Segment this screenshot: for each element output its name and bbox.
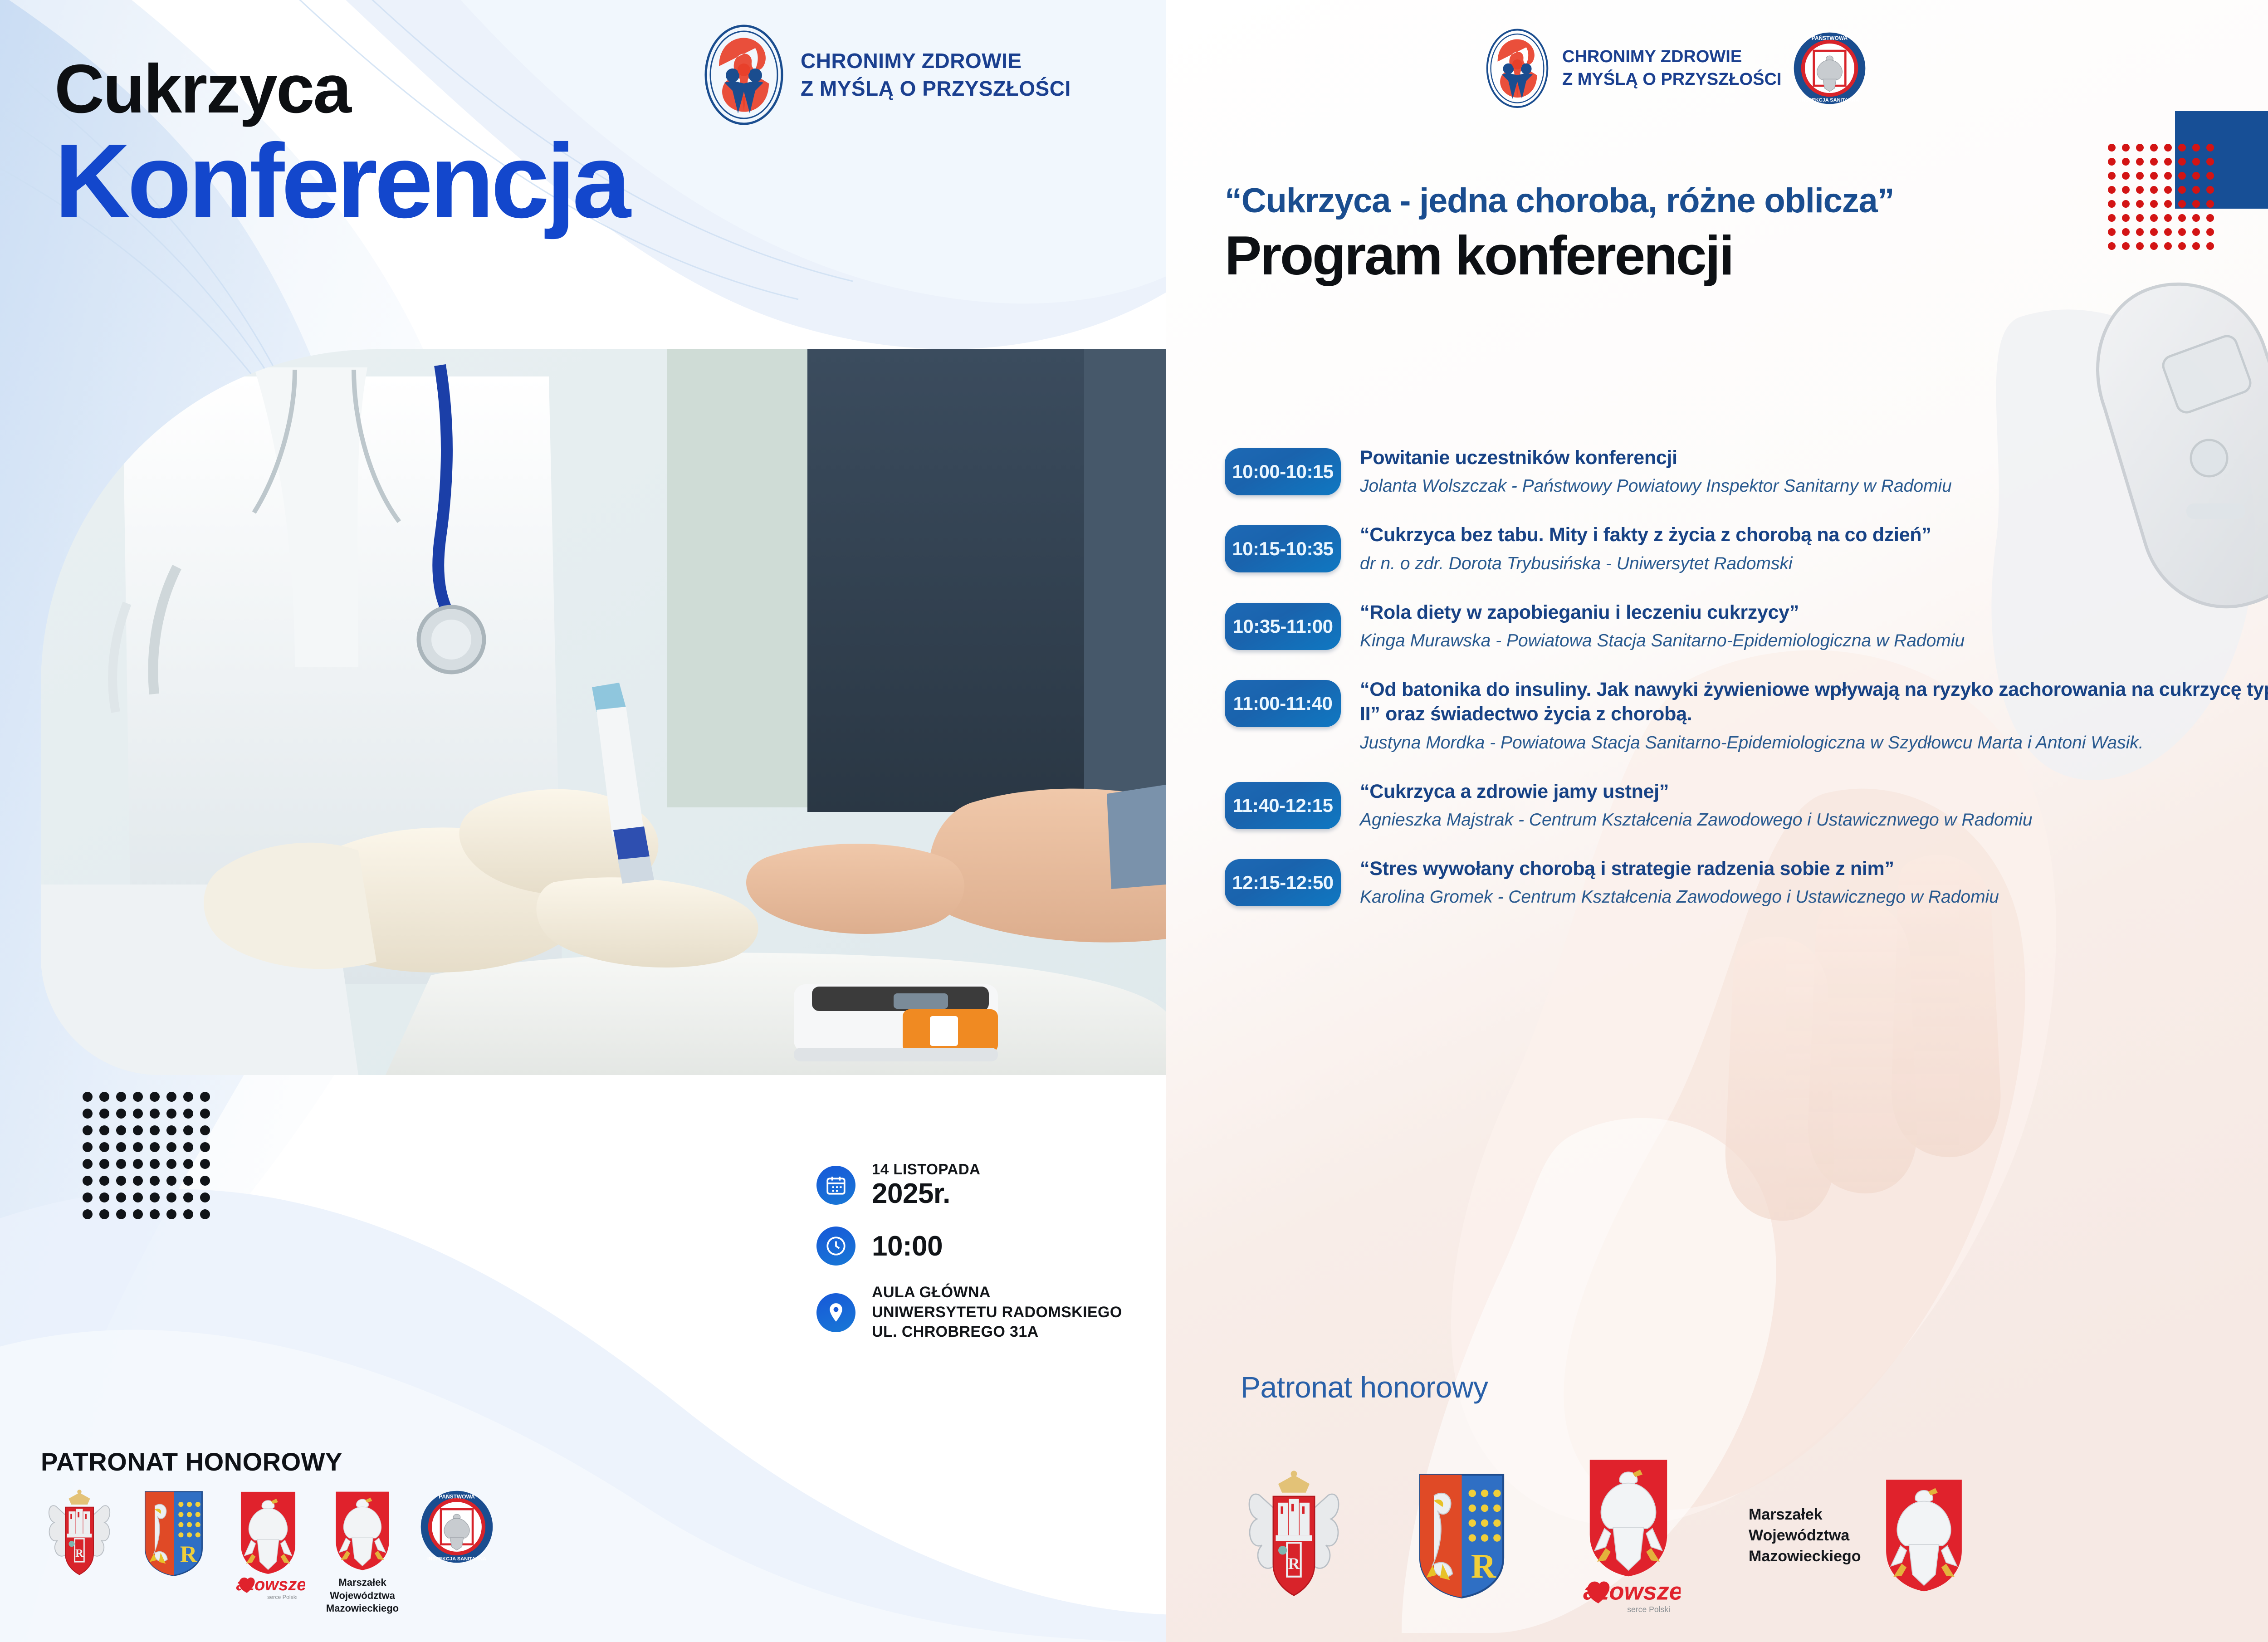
logo-tagline-line2: Z MYŚLĄ O PRZYSZŁOŚCI (801, 77, 1071, 100)
event-details: 14 LISTOPADA 2025r. 10:00 (816, 1161, 1122, 1359)
svg-text:serce Polski: serce Polski (267, 1594, 298, 1600)
panstwowa-inspekcja-sanitarna-seal-icon: PAŃSTWOWA INSPEKCJA SANITARNA (1792, 31, 1867, 106)
patronage-heading-right: Patronat honorowy (1241, 1370, 1488, 1404)
svg-text:PAŃSTWOWA: PAŃSTWOWA (439, 1493, 475, 1500)
schedule-speaker: Agnieszka Majstrak - Centrum Kształcenia… (1360, 808, 2268, 832)
event-time-value: 10:00 (872, 1231, 943, 1262)
crest-mazowsze-brand: azowsze. serce Polski (230, 1489, 307, 1604)
conference-quote-heading: “Cukrzyca - jedna choroba, różne oblicza… (1225, 181, 1894, 220)
schedule-time-badge[interactable]: 10:15-10:35 (1225, 525, 1341, 572)
schedule-speaker: Kinga Murawska - Powiatowa Stacja Sanita… (1360, 629, 2268, 653)
logo-tagline-line1: CHRONIMY ZDROWIE (801, 49, 1022, 73)
schedule-speaker: Karolina Gromek - Centrum Kształcenia Za… (1360, 885, 2268, 909)
svg-text:INSPEKCJA SANITARNA: INSPEKCJA SANITARNA (427, 1556, 486, 1562)
schedule-speaker: Justyna Mordka - Powiatowa Stacja Sanita… (1360, 731, 2268, 755)
panstwowa-inspekcja-sanitarna-seal-icon: PAŃSTWOWA INSPEKCJA SANITARNA (419, 1489, 494, 1564)
svg-text:azowsze.: azowsze. (236, 1575, 305, 1594)
radom-city-coat-of-arms-icon: R (43, 1489, 116, 1579)
mazowieckie-voivodeship-coat-of-arms-icon (1873, 1476, 1975, 1596)
schedule-row: 11:40-12:15 “Cukrzyca a zdrowie jamy ust… (1225, 778, 2268, 832)
schedule-title: “Cukrzyca bez tabu. Mity i fakty z życia… (1360, 523, 2268, 547)
crest-radom-city: R (41, 1489, 118, 1582)
crest-mazowsze-brand: azowsze. serce Polski (1576, 1456, 1681, 1616)
schedule-title: Powitanie uczestników konferencji (1360, 445, 2268, 470)
logo-tagline: CHRONIMY ZDROWIE Z MYŚLĄ O PRZYSZŁOŚCI (1562, 45, 1781, 91)
schedule-time-badge[interactable]: 12:15-12:50 (1225, 859, 1341, 906)
left-title-block: Cukrzyca Konferencja (54, 54, 628, 235)
schedule-time-badge[interactable]: 11:00-11:40 (1225, 680, 1341, 727)
schedule-row: 10:15-10:35 “Cukrzyca bez tabu. Mity i f… (1225, 522, 2268, 575)
right-logo-row: CHRONIMY ZDROWIE Z MYŚLĄ O PRZYSZŁOŚCI P… (1483, 27, 1867, 109)
schedule-title: “Stres wywołany chorobą i strategie radz… (1360, 856, 2268, 881)
event-venue-row: AULA GŁÓWNA UNIWERSYTETU RADOMSKIEGO UL.… (816, 1283, 1122, 1342)
svg-text:serce Polski: serce Polski (1627, 1605, 1670, 1614)
radom-county-coat-of-arms-icon: R (142, 1489, 205, 1578)
svg-text:PAŃSTWOWA: PAŃSTWOWA (1812, 34, 1848, 41)
schedule-row: 11:00-11:40 “Od batonika do insuliny. Ja… (1225, 676, 2268, 755)
right-headings: “Cukrzyca - jedna choroba, różne oblicza… (1225, 181, 1894, 285)
crest-caption-marshal: MarszałekWojewództwaMazowieckiego (326, 1576, 399, 1615)
mazowieckie-voivodeship-coat-of-arms-icon (327, 1489, 398, 1574)
calendar-icon (816, 1166, 855, 1205)
crest-radom-county: R (135, 1489, 212, 1581)
patronage-crest-row-right: R R (1241, 1456, 1975, 1616)
schedule-row: 10:00-10:15 Powitanie uczestników konfer… (1225, 445, 2268, 498)
left-panel: Cukrzyca Konferencja CHRONIMY ZDROWIE (0, 0, 1166, 1642)
radom-city-coat-of-arms-icon: R (1241, 1470, 1347, 1602)
poster-title-line2: Konferencja (54, 128, 628, 235)
schedule-row: 12:15-12:50 “Stres wywołany chorobą i st… (1225, 855, 2268, 909)
event-time-row: 10:00 (816, 1227, 1122, 1266)
mazowsze-brand-logo-icon: azowsze. serce Polski (1576, 1456, 1681, 1616)
conference-poster: Cukrzyca Konferencja CHRONIMY ZDROWIE (0, 0, 2268, 1642)
schedule-speaker: dr n. o zdr. Dorota Trybusińska - Uniwer… (1360, 552, 2268, 576)
poster-title-line1: Cukrzyca (54, 54, 628, 123)
dot-grid-decoration-red (2105, 141, 2217, 253)
schedule-time-badge[interactable]: 10:00-10:15 (1225, 448, 1341, 495)
venue-line-2: UNIWERSYTETU RADOMSKIEGO (872, 1304, 1122, 1321)
program-heading: Program konferencji (1225, 226, 1894, 285)
venue-line-1: AULA GŁÓWNA (872, 1284, 991, 1301)
conference-schedule: 10:00-10:15 Powitanie uczestników konfer… (1225, 445, 2268, 933)
svg-text:INSPEKCJA SANITARNA: INSPEKCJA SANITARNA (1800, 97, 1859, 103)
crest-mazowieckie-marshal: MarszałekWojewództwaMazowieckiego (1749, 1476, 1975, 1596)
schedule-title: “Rola diety w zapobieganiu i leczeniu cu… (1360, 600, 2268, 625)
event-date-value: 2025r. (872, 1178, 950, 1209)
schedule-speaker: Jolanta Wolszczak - Państwowy Powiatowy … (1360, 474, 2268, 498)
left-logo-row: CHRONIMY ZDROWIE Z MYŚLĄ O PRZYSZŁOŚCI (701, 23, 1071, 127)
marshal-line-1: MarszałekWojewództwaMazowieckiego (1749, 1506, 1861, 1565)
crest-caption-marshal: MarszałekWojewództwaMazowieckiego (1749, 1505, 1861, 1567)
schedule-time-badge[interactable]: 10:35-11:00 (1225, 603, 1341, 650)
patronage-section-right: Patronat honorowy (1241, 1370, 1488, 1404)
mazowsze-brand-logo-icon: azowsze. serce Polski (231, 1489, 305, 1602)
logo-tagline-line1: CHRONIMY ZDROWIE (1562, 47, 1742, 66)
chronimy-zdrowie-logo-icon (701, 23, 787, 127)
chronimy-zdrowie-logo-icon (1483, 27, 1551, 109)
schedule-row: 10:35-11:00 “Rola diety w zapobieganiu i… (1225, 599, 2268, 653)
patronage-crest-row-left: R (41, 1489, 495, 1615)
svg-text:R: R (1288, 1554, 1300, 1573)
svg-text:azowsze.: azowsze. (1583, 1578, 1681, 1605)
radom-county-coat-of-arms-icon: R (1415, 1471, 1508, 1601)
logo-tagline-line2: Z MYŚLĄ O PRZYSZŁOŚCI (1562, 70, 1781, 89)
patronage-section-left: PATRONAT HONOROWY (41, 1447, 495, 1615)
venue-line-3: UL. CHROBREGO 31A (872, 1323, 1039, 1340)
patronage-heading-left: PATRONAT HONOROWY (41, 1447, 495, 1476)
schedule-title: “Cukrzyca a zdrowie jamy ustnej” (1360, 779, 2268, 804)
conference-photo (41, 349, 1166, 1075)
crest-radom-city: R (1241, 1470, 1347, 1602)
svg-text:R: R (1471, 1547, 1496, 1585)
schedule-title: “Od batonika do insuliny. Jak nawyki żyw… (1360, 677, 2268, 726)
map-pin-icon (816, 1293, 855, 1332)
schedule-time-badge[interactable]: 11:40-12:15 (1225, 782, 1341, 829)
crest-mazowieckie-marshal: MarszałekWojewództwaMazowieckiego (324, 1489, 401, 1615)
svg-text:R: R (75, 1547, 83, 1559)
svg-text:R: R (180, 1541, 198, 1568)
dot-grid-decoration-black (79, 1089, 214, 1223)
crest-sanepid: PAŃSTWOWA INSPEKCJA SANITARNA (418, 1489, 495, 1567)
crest-radom-county: R (1415, 1471, 1508, 1601)
clock-icon (816, 1227, 855, 1266)
logo-tagline: CHRONIMY ZDROWIE Z MYŚLĄ O PRZYSZŁOŚCI (801, 47, 1071, 102)
event-date-row: 14 LISTOPADA 2025r. (816, 1161, 1122, 1209)
event-date-label: 14 LISTOPADA (872, 1161, 981, 1178)
